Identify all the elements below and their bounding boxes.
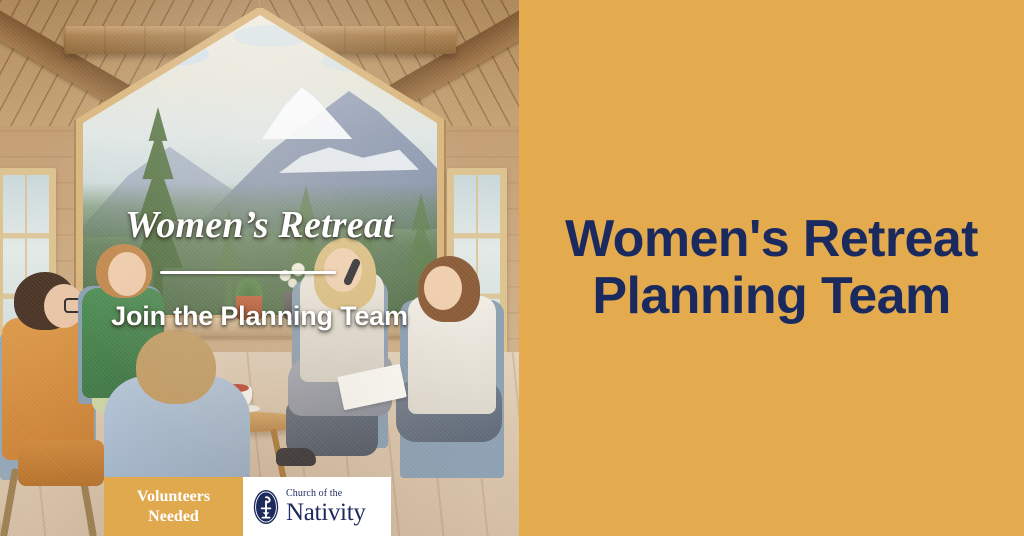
artwork-text-overlay: Women’s Retreat Join the Planning Team <box>0 0 519 536</box>
page-title-line-2: Planning Team <box>592 267 950 325</box>
page-title-line-1: Women's Retreat <box>565 210 978 268</box>
retreat-illustration: Women’s Retreat Join the Planning Team V… <box>0 0 519 536</box>
volunteers-needed-badge: Volunteers Needed <box>104 477 243 536</box>
church-logo-wordmark: Church of the Nativity <box>286 489 366 525</box>
volunteers-line-1: Volunteers <box>137 487 210 507</box>
title-panel: Women's Retreat Planning Team <box>519 0 1024 536</box>
event-promo-banner: Women’s Retreat Join the Planning Team V… <box>0 0 1024 536</box>
nativity-crosier-icon <box>252 488 280 526</box>
overlay-title: Women’s Retreat <box>0 206 519 244</box>
volunteers-line-2: Needed <box>148 507 199 527</box>
overlay-divider-rule <box>160 271 336 274</box>
bottom-ribbon: Volunteers Needed Church of <box>104 477 391 536</box>
logo-line-2: Nativity <box>286 500 366 525</box>
overlay-subtitle: Join the Planning Team <box>0 303 519 330</box>
page-title: Women's Retreat Planning Team <box>551 211 992 325</box>
church-logo: Church of the Nativity <box>243 477 391 536</box>
logo-line-1: Church of the <box>286 489 366 499</box>
